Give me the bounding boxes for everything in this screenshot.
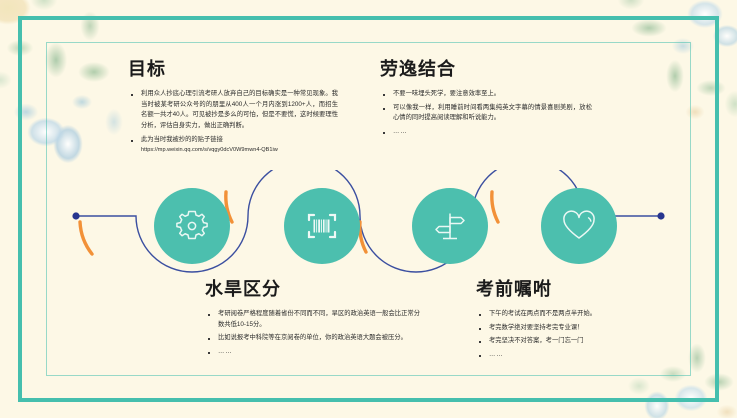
orange-accent-left	[80, 222, 92, 254]
content-block-goals: 目标 利用众人抄底心理引流考研人放弃自己的目标确实是一种常见现象。我当时被某考研…	[128, 60, 338, 158]
list-item: 比如说报考中科院等在京阅卷的单位，你的政治英语大题会被压分。	[205, 333, 420, 344]
section-title-exam-reminders: 考前嘱咐	[476, 280, 686, 300]
heart-icon	[559, 206, 599, 246]
icon-circle-barcode[interactable]	[284, 188, 360, 264]
icon-circle-signpost[interactable]	[412, 188, 488, 264]
icon-circle-heart[interactable]	[541, 188, 617, 264]
signpost-icon	[430, 206, 470, 246]
endpoint-dot-left	[72, 212, 79, 219]
bullet-list-goals: 利用众人抄底心理引流考研人放弃自己的目标确实是一种常见现象。我当时被某考研公众号…	[128, 89, 338, 156]
wave-connector-graphic	[0, 170, 737, 282]
source-link[interactable]: https://mp.weixin.qq.com/s/vqgy0dcV0W9mw…	[141, 146, 338, 156]
list-item: 考完数学绝对要坚持考完专业课！	[476, 323, 686, 334]
orange-accent-3	[492, 192, 498, 222]
barcode-scan-icon	[302, 206, 342, 246]
bullet-list-exam-reminders: 下午的考试在两点而不是两点半开始。 考完数学绝对要坚持考完专业课！ 考完坚决不对…	[476, 309, 686, 361]
bullet-list-work-rest: 不要一味埋头死学，要注意效率至上。 可以像我一样，利用睡前时间看两集纯英文字幕的…	[380, 89, 592, 138]
list-item: 下午的考试在两点而不是两点半开始。	[476, 309, 686, 320]
page-title: 目标	[128, 60, 338, 80]
content-block-exam-reminders: 考前嘱咐 下午的考试在两点而不是两点半开始。 考完数学绝对要坚持考完专业课！ 考…	[476, 280, 686, 364]
gear-icon	[172, 206, 212, 246]
presentation-slide: 目标 利用众人抄底心理引流考研人放弃自己的目标确实是一种常见现象。我当时被某考研…	[0, 0, 737, 418]
section-title-region-grading: 水旱区分	[205, 280, 420, 300]
section-title-work-rest: 劳逸结合	[380, 60, 592, 80]
endpoint-dot-right	[657, 212, 664, 219]
list-item: ……	[380, 127, 592, 138]
icon-circle-gear[interactable]	[154, 188, 230, 264]
list-item: 利用众人抄底心理引流考研人放弃自己的目标确实是一种常见现象。我当时被某考研公众号…	[128, 89, 338, 132]
content-block-work-rest-balance: 劳逸结合 不要一味埋头死学，要注意效率至上。 可以像我一样，利用睡前时间看两集纯…	[380, 60, 592, 141]
list-item: 考研阅卷严格程度随着省份不同而不同，旱区的政治英语一般会比正常分数共低10-15…	[205, 309, 420, 331]
list-item: ……	[205, 347, 420, 358]
orange-accent-2	[360, 222, 366, 252]
list-item-text: 此为当时我被抄的的贴子链接	[141, 136, 223, 143]
list-item: 可以像我一样，利用睡前时间看两集纯英文字幕的情景喜剧美剧，放松心情的同时提高阅读…	[380, 103, 592, 125]
bullet-list-region-grading: 考研阅卷严格程度随着省份不同而不同，旱区的政治英语一般会比正常分数共低10-15…	[205, 309, 420, 358]
list-item: 考完坚决不对答案，考一门忘一门	[476, 336, 686, 347]
list-item: 不要一味埋头死学，要注意效率至上。	[380, 89, 592, 100]
list-item: ……	[476, 350, 686, 361]
list-item: 此为当时我被抄的的贴子链接 https://mp.weixin.qq.com/s…	[128, 135, 338, 155]
timeline-band	[0, 170, 737, 282]
content-block-region-grading: 水旱区分 考研阅卷严格程度随着省份不同而不同，旱区的政治英语一般会比正常分数共低…	[205, 280, 420, 361]
